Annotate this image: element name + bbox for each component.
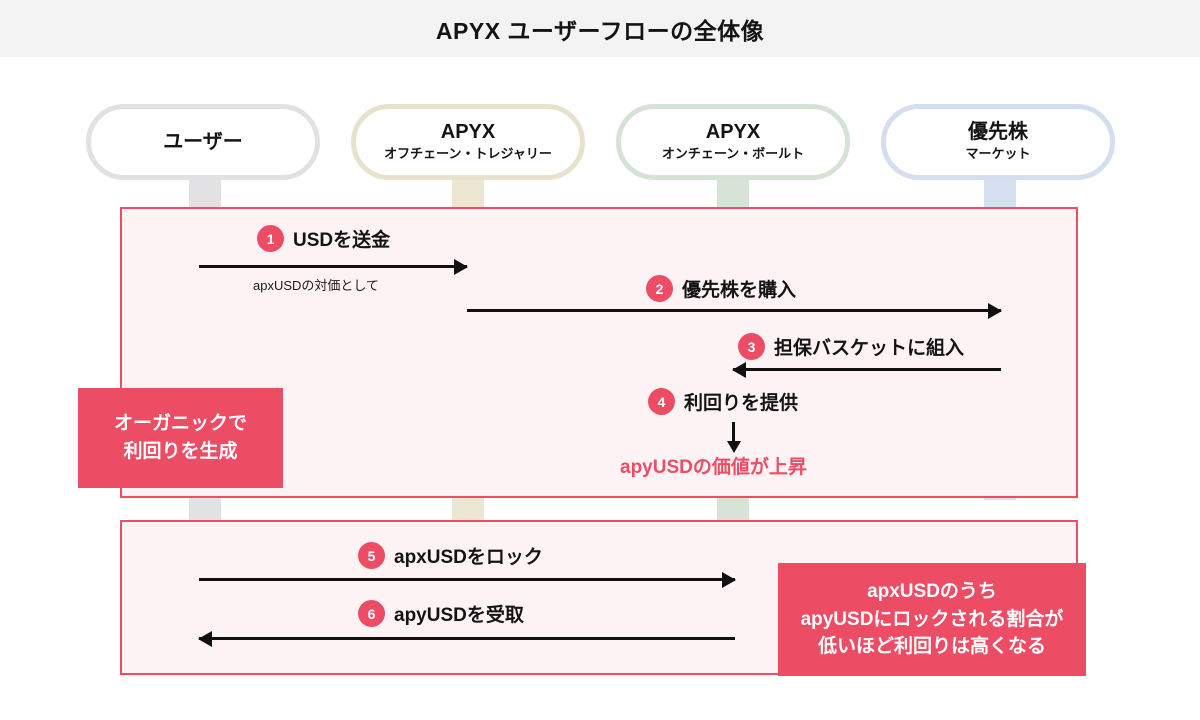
lane-header-user: ユーザー bbox=[86, 104, 320, 180]
lane-header-vault-title: APYX bbox=[706, 121, 760, 144]
step-3-badge: 3 bbox=[738, 333, 765, 360]
step-1: 1 USDを送金 bbox=[257, 225, 390, 252]
step-6-label: apyUSDを受取 bbox=[394, 600, 524, 627]
callout-right-line-1: apxUSDのうち bbox=[867, 578, 997, 606]
yield-result-text: apyUSDの価値が上昇 bbox=[620, 452, 807, 479]
callout-lock-ratio: apxUSDのうち apyUSDにロックされる割合が 低いほど利回りは高くなる bbox=[778, 563, 1086, 676]
lane-header-user-title: ユーザー bbox=[163, 131, 243, 154]
step-1-note: apxUSDの対価として bbox=[253, 275, 379, 294]
step-5: 5 apxUSDをロック bbox=[358, 542, 543, 569]
step-6-badge: 6 bbox=[358, 600, 385, 627]
step-5-label: apxUSDをロック bbox=[394, 542, 543, 569]
step-2: 2 優先株を購入 bbox=[646, 275, 796, 302]
title-bar: APYX ユーザーフローの全体像 bbox=[0, 0, 1200, 57]
step-2-badge: 2 bbox=[646, 275, 673, 302]
arrow-head-right-icon bbox=[454, 259, 468, 275]
callout-organic-yield: オーガニックで 利回りを生成 bbox=[78, 388, 283, 488]
step-6: 6 apyUSDを受取 bbox=[358, 600, 524, 627]
step-4-badge: 4 bbox=[648, 388, 675, 415]
lane-header-market: 優先株 マーケット bbox=[881, 104, 1115, 180]
callout-right-line-2: apyUSDにロックされる割合が bbox=[801, 606, 1064, 634]
page-title: APYX ユーザーフローの全体像 bbox=[436, 12, 764, 46]
lane-header-treasury: APYX オフチェーン・トレジャリー bbox=[351, 104, 585, 180]
step-1-badge: 1 bbox=[257, 225, 284, 252]
lane-header-treasury-title: APYX bbox=[441, 121, 495, 144]
step-4: 4 利回りを提供 bbox=[648, 388, 798, 415]
step-2-arrow bbox=[467, 309, 1001, 312]
step-1-label: USDを送金 bbox=[293, 225, 390, 252]
arrow-head-left-icon bbox=[732, 362, 746, 378]
callout-left-line-1: オーガニックで bbox=[114, 410, 247, 438]
callout-left-line-2: 利回りを生成 bbox=[123, 438, 237, 466]
lane-header-treasury-subtitle: オフチェーン・トレジャリー bbox=[384, 146, 552, 163]
step-4-label: 利回りを提供 bbox=[684, 388, 798, 415]
lane-header-market-title: 優先株 bbox=[968, 121, 1028, 144]
step-2-label: 優先株を購入 bbox=[682, 275, 796, 302]
arrow-head-left-icon bbox=[198, 631, 212, 647]
step-6-arrow bbox=[199, 637, 735, 640]
arrow-head-right-icon bbox=[988, 303, 1002, 319]
step-1-arrow bbox=[199, 265, 467, 268]
step-4-down-arrow bbox=[732, 422, 735, 442]
lane-header-market-subtitle: マーケット bbox=[965, 146, 1030, 163]
diagram-canvas: APYX ユーザーフローの全体像 ユーザー APYX オフチェーン・トレジャリー… bbox=[0, 0, 1200, 720]
callout-right-line-3: 低いほど利回りは高くなる bbox=[818, 633, 1046, 661]
step-5-arrow bbox=[199, 578, 735, 581]
step-3: 3 担保バスケットに組入 bbox=[738, 333, 964, 360]
lane-header-vault: APYX オンチェーン・ボールト bbox=[616, 104, 850, 180]
step-3-label: 担保バスケットに組入 bbox=[774, 333, 964, 360]
step-5-badge: 5 bbox=[358, 542, 385, 569]
step-3-arrow bbox=[733, 368, 1001, 371]
lane-header-vault-subtitle: オンチェーン・ボールト bbox=[662, 146, 804, 163]
arrow-head-right-icon bbox=[722, 572, 736, 588]
